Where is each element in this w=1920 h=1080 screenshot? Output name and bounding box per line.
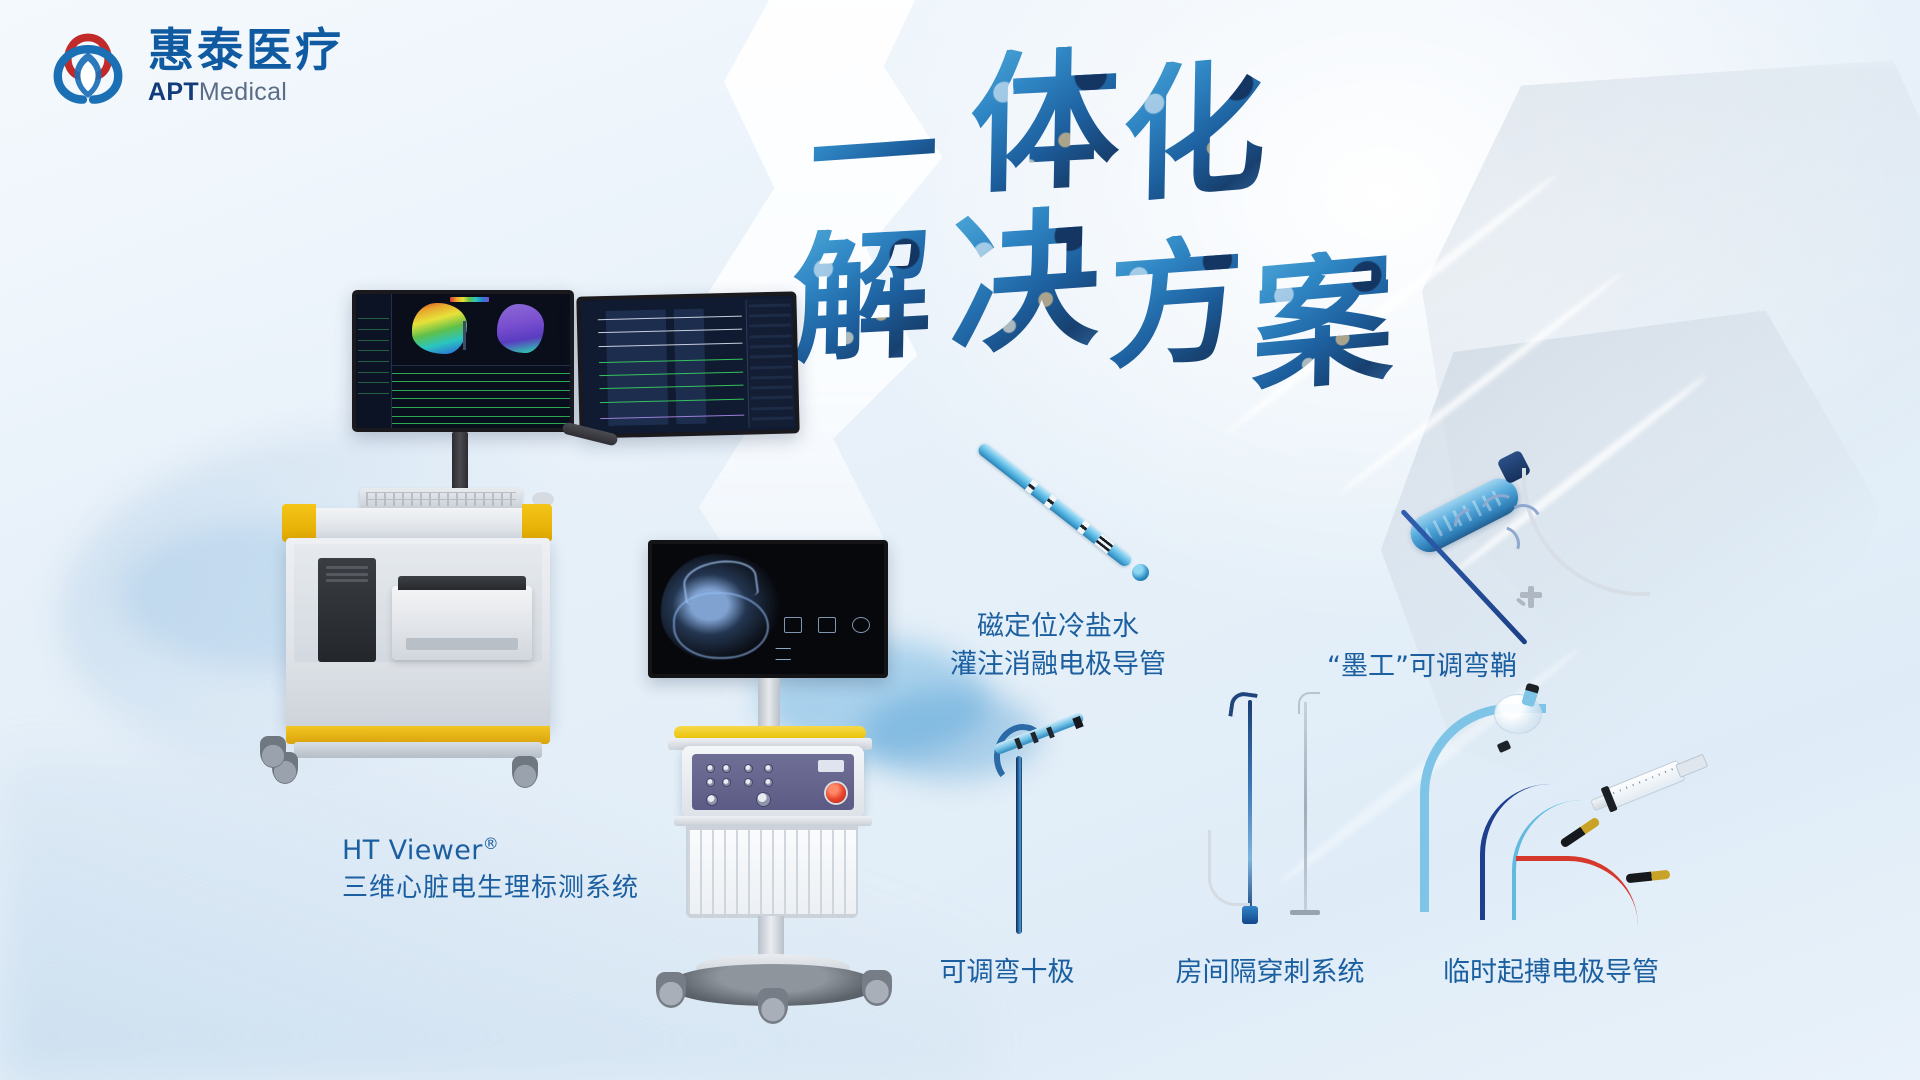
emergency-stop-button[interactable]	[826, 783, 846, 803]
cabinet-base	[294, 742, 542, 758]
headline-char-7: 案	[1251, 245, 1395, 400]
connector-port[interactable]	[706, 778, 715, 787]
red-lead-wire	[1516, 856, 1638, 926]
keyboard[interactable]	[360, 488, 522, 510]
caption-steerable-sheath: “墨工”可调弯鞘	[1327, 648, 1517, 686]
new-case-icon[interactable]	[784, 617, 802, 633]
ep-recording-view	[580, 295, 795, 434]
caption-pacing-catheter: 临时起搏电极导管	[1443, 954, 1659, 992]
decapolar-electrode-array	[986, 710, 1090, 756]
mapping-monitor-screen	[356, 294, 570, 428]
caption-transseptal: 房间隔穿刺系统	[1176, 954, 1365, 992]
heart-illustration	[661, 554, 782, 663]
poster-background: 惠泰医疗 APTMedical 一 体 化 解 决 方 案	[0, 0, 1920, 1080]
display-post	[758, 678, 780, 730]
power-icon[interactable]	[852, 617, 870, 633]
headline-char-3: 化	[1121, 53, 1267, 210]
cart-worktop-trim-left	[282, 504, 316, 542]
generator-unit	[682, 746, 864, 818]
caption-decapolar: 可调弯十极	[940, 954, 1075, 992]
apt-medical-logo-icon	[46, 24, 130, 108]
dilator-shaft	[1304, 702, 1307, 914]
dilator-curved-tip	[1298, 692, 1320, 714]
catheter-shaft	[976, 441, 1134, 568]
storage-basket	[686, 826, 858, 918]
mapping-monitor	[352, 290, 574, 432]
cart-caster	[260, 736, 286, 768]
cart-worktop-trim-right	[522, 504, 552, 542]
headline-char-2: 体	[969, 44, 1121, 202]
computer-tower	[318, 558, 376, 662]
rf-generator-cart	[640, 540, 940, 1040]
ht-viewer-name-text: HT Viewer	[342, 835, 483, 866]
steerable-decapolar-catheter	[960, 700, 1120, 930]
panel-label-plate	[818, 760, 844, 772]
connector-port[interactable]	[744, 778, 753, 787]
connector-port[interactable]	[764, 764, 773, 773]
settings-icon[interactable]	[775, 648, 791, 660]
steerable-sheath	[1400, 430, 1700, 630]
printer-lid	[398, 576, 526, 590]
cabinet-bay	[294, 544, 542, 662]
recording-monitor-screen	[580, 295, 795, 434]
generator-shelf	[674, 816, 872, 826]
connector-port[interactable]	[764, 778, 773, 787]
cart-caster	[862, 970, 892, 1006]
hemostasis-valve	[1516, 584, 1546, 610]
ablation-label-line1: 磁定位冷盐水	[950, 608, 1166, 646]
dilator-hub	[1290, 910, 1320, 915]
open-case-icon[interactable]	[818, 617, 836, 633]
display-icon-row	[784, 617, 870, 633]
syringe-barrel	[1605, 760, 1686, 810]
ep-parameter-table	[746, 298, 796, 428]
chamber-mesh-right	[497, 304, 544, 353]
return-electrode-port[interactable]	[756, 792, 771, 807]
printer	[392, 586, 532, 660]
irrigated-ablation-catheter	[980, 440, 1180, 600]
ht-viewer-name-en: HT Viewer®	[342, 832, 639, 870]
ground-port[interactable]	[706, 794, 718, 806]
cart-caster	[656, 972, 686, 1008]
brand-logo: 惠泰医疗 APTMedical	[46, 24, 344, 108]
needle-curved-tip	[1228, 690, 1257, 719]
caption-ht-viewer: HT Viewer® 三维心脏电生理标测系统	[342, 832, 639, 907]
cart-caster	[512, 756, 538, 788]
connector-port[interactable]	[706, 764, 715, 773]
temporary-pacing-catheter	[1420, 680, 1720, 920]
recording-monitor	[576, 291, 799, 438]
needle-side-arm	[1208, 830, 1250, 906]
connector-panel	[692, 754, 854, 810]
syringe-plunger	[1675, 754, 1708, 778]
lead-connector-pin	[1626, 870, 1671, 884]
connector-port[interactable]	[722, 778, 731, 787]
trademark-symbol: ®	[483, 834, 499, 853]
connector-port[interactable]	[722, 764, 731, 773]
generator-display	[648, 540, 888, 678]
mapping-signal-sidebar	[356, 294, 392, 428]
chamber-mesh-left	[412, 303, 468, 354]
transseptal-puncture-system	[1200, 690, 1340, 930]
headline-char-1: 一	[809, 87, 939, 224]
voltage-color-scale	[450, 297, 489, 302]
brand-text-block: 惠泰医疗 APTMedical	[148, 27, 344, 105]
brand-name-cn: 惠泰医疗	[148, 27, 344, 73]
mapping-ecg-strip	[392, 366, 570, 428]
ht-viewer-name-cn: 三维心脏电生理标测系统	[342, 870, 639, 907]
monitor-mount-post	[452, 432, 468, 492]
needle-hub	[1242, 906, 1258, 924]
connector-port[interactable]	[744, 764, 753, 773]
curve-shape-diagram	[1454, 490, 1546, 582]
headline-calligraphy: 一 体 化 解 决 方 案	[960, 40, 1620, 360]
ablation-label-line2: 灌注消融电极导管	[950, 646, 1166, 684]
inflation-syringe	[1587, 746, 1711, 820]
cart-caster	[758, 988, 788, 1024]
headline-char-5: 决	[949, 202, 1101, 363]
brand-name-en-bold: APT	[148, 78, 199, 106]
headline-char-6: 方	[1107, 231, 1245, 377]
generator-display-screen	[652, 544, 884, 674]
catheter-tip-electrode	[1132, 564, 1149, 581]
cart-cabinet	[286, 538, 550, 728]
cart-worktop	[286, 508, 546, 538]
brand-name-en-light: Medical	[199, 78, 287, 106]
caption-ablation-catheter: 磁定位冷盐水 灌注消融电极导管	[950, 608, 1166, 685]
brand-name-en: APTMedical	[148, 80, 344, 105]
